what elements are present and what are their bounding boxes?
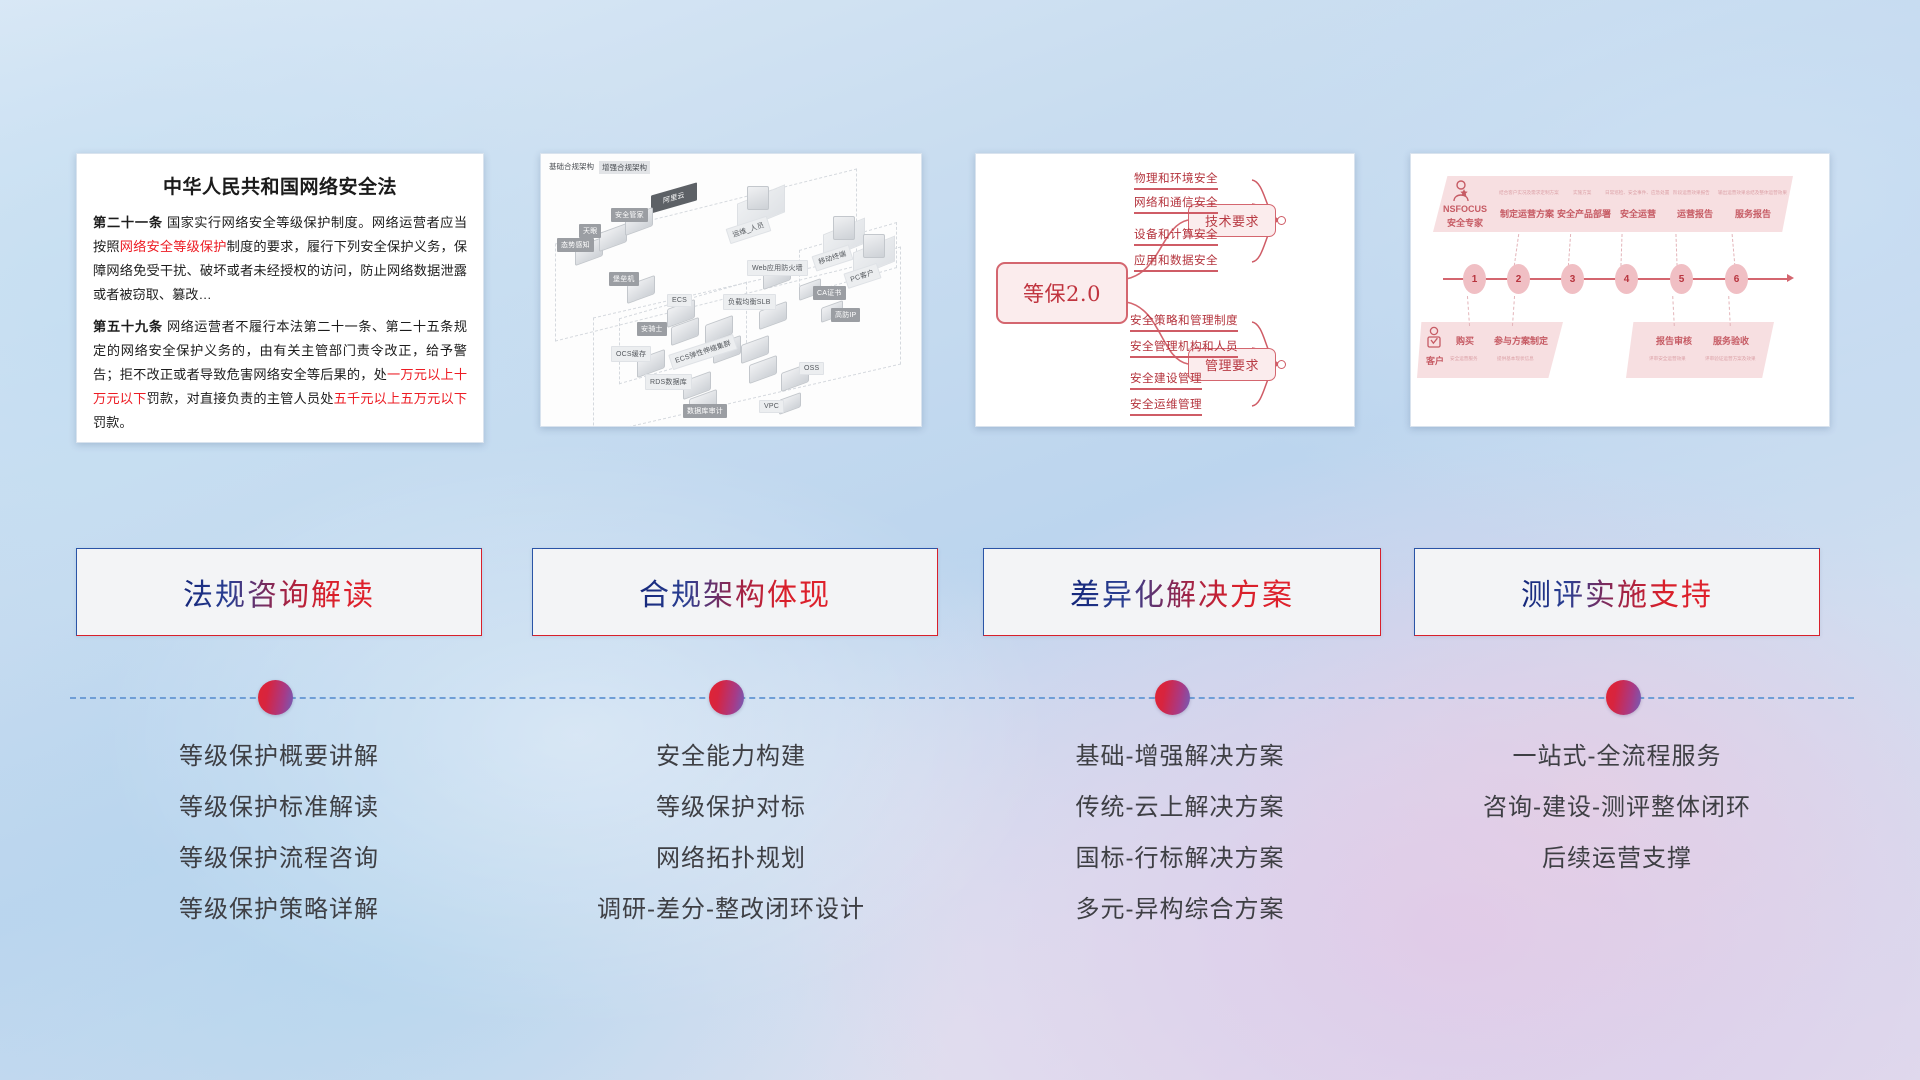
article-59-label: 第五十九条 — [93, 319, 163, 334]
cloud-tab-enhanced: 增强合规架构 — [599, 161, 650, 174]
title-box-2[interactable]: 合规架构体现 — [532, 548, 938, 636]
nsfocus-bottom-sub-4: 评审验证运营方案及效果 — [1705, 356, 1756, 362]
node-label-anqishi: 安骑士 — [637, 322, 667, 336]
nsfocus-step-marker-6: 6 — [1725, 264, 1748, 294]
list-item: 等级保护概要讲解 — [76, 745, 482, 769]
nsfocus-connector-bottom-2 — [1512, 296, 1516, 326]
nsfocus-bottom-sub-3: 评审安全运营效果 — [1649, 356, 1686, 362]
list-item: 后续运营支撑 — [1398, 847, 1836, 871]
title-label-1: 法规咨询解读 — [183, 570, 375, 614]
title-box-1[interactable]: 法规咨询解读 — [76, 548, 482, 636]
list-item: 等级保护对标 — [515, 796, 947, 820]
nsfocus-top-title-1: 制定运营方案 — [1500, 207, 1554, 220]
feature-column-3: 基础-增强解决方案 传统-云上解决方案 国标-行标解决方案 多元-异构综合方案 — [975, 745, 1385, 949]
feature-column-1: 等级保护概要讲解 等级保护标准解读 等级保护流程咨询 等级保护策略详解 — [76, 745, 482, 949]
list-item: 安全能力构建 — [515, 745, 947, 769]
list-item: 网络拓扑规划 — [515, 847, 947, 871]
list-item: 调研-差分-整改闭环设计 — [515, 898, 947, 922]
nsfocus-step-marker-1: 1 — [1463, 264, 1486, 294]
mindmap-leaf-tech-1: 物理和环境安全 — [1134, 170, 1218, 190]
nsfocus-top-title-2: 安全产品部署 — [1557, 207, 1611, 220]
slide-stage: 中华人民共和国网络安全法 第二十一条 国家实行网络安全等级保护制度。网络运营者应… — [0, 0, 1920, 1080]
card-cloud-architecture: 基础合规架构 增强合规架构 阿里云 态势感知 天眼 安全管家 — [540, 153, 922, 427]
mindmap-dot-technical — [1277, 216, 1286, 225]
node-label-vpc: VPC — [759, 400, 784, 413]
nsfocus-bottom-band-right — [1626, 322, 1774, 378]
node-mobile-client — [833, 216, 855, 240]
nsfocus-connector-bottom-1 — [1467, 296, 1471, 326]
card-mindmap: 等保2.0 技术要求 物理和环境安全 网络和通信安全 设备和计算安全 应用和数据… — [975, 153, 1355, 427]
node-label-oss: OSS — [799, 362, 824, 375]
node-label-ocs: OCS缓存 — [611, 346, 651, 362]
node-label-rds: RDS数据库 — [645, 374, 692, 390]
nsfocus-customer-label: 客户 — [1426, 354, 1444, 367]
nsfocus-connector-bottom-5 — [1672, 296, 1676, 326]
nsfocus-top-sub-4: 阶段运营效果报告 — [1673, 190, 1710, 196]
feature-column-4: 一站式-全流程服务 咨询-建设-测评整体闭环 后续运营支撑 — [1398, 745, 1836, 898]
list-item: 国标-行标解决方案 — [975, 847, 1385, 871]
mindmap-leaf-tech-2: 网络和通信安全 — [1134, 194, 1218, 214]
nsfocus-connector-top-3 — [1568, 234, 1572, 266]
timeline-dot-1[interactable] — [258, 680, 293, 715]
list-item: 基础-增强解决方案 — [975, 745, 1385, 769]
nsfocus-connector-top-6 — [1732, 234, 1737, 266]
nsfocus-top-sub-1: 结合客户实况及需求定制方案 — [1499, 190, 1559, 196]
node-label-slb: 负载均衡SLB — [723, 294, 776, 310]
article-59-text-2: 罚款，对直接负责的主管人员处 — [146, 391, 333, 406]
mindmap-leaf-mgmt-4: 安全运维管理 — [1130, 396, 1202, 416]
mindmap-root: 等保2.0 — [996, 262, 1128, 324]
article-59-highlight-2: 五千元以上五万元以下 — [334, 391, 467, 406]
nsfocus-bottom-sub-1: 安全运营服务 — [1450, 356, 1478, 362]
list-item: 一站式-全流程服务 — [1398, 745, 1836, 769]
article-21-label: 第二十一条 — [93, 215, 163, 230]
list-item: 传统-云上解决方案 — [975, 796, 1385, 820]
node-ecs-cluster-4 — [749, 360, 777, 379]
customer-icon — [1425, 326, 1443, 352]
node-tianyan — [599, 228, 627, 247]
nsfocus-step-marker-5: 5 — [1670, 264, 1693, 294]
mindmap-leaf-mgmt-1: 安全策略和管理制度 — [1130, 312, 1238, 332]
nsfocus-diagram: NSFOCUS 安全专家 结合客户实况及需求定制方案 制定运营方案 实施方案 安… — [1411, 154, 1829, 426]
nsfocus-bottom-title-2: 参与方案制定 — [1494, 334, 1548, 347]
mindmap-canvas: 等保2.0 技术要求 物理和环境安全 网络和通信安全 设备和计算安全 应用和数据… — [976, 154, 1354, 426]
nsfocus-bottom-title-1: 购买 — [1456, 334, 1474, 347]
article-21-highlight: 网络安全等级保护 — [120, 239, 227, 254]
nsfocus-top-sub-3: 日常巡检、安全事件、应急处置 — [1605, 190, 1669, 196]
law-title: 中华人民共和国网络安全法 — [93, 172, 467, 199]
timeline-dashed-line — [70, 697, 1854, 699]
node-pc-client — [863, 234, 885, 258]
node-label-security-manager: 安全管家 — [611, 208, 648, 222]
node-label-ecs: ECS — [667, 294, 692, 307]
card-nsfocus-timeline: NSFOCUS 安全专家 结合客户实况及需求定制方案 制定运营方案 实施方案 安… — [1410, 153, 1830, 427]
title-label-4: 测评实施支持 — [1521, 570, 1713, 614]
node-label-situation-awareness: 态势感知 — [557, 238, 594, 252]
nsfocus-bottom-title-3: 报告审核 — [1656, 334, 1692, 347]
list-item: 等级保护标准解读 — [76, 796, 482, 820]
card-law-document: 中华人民共和国网络安全法 第二十一条 国家实行网络安全等级保护制度。网络运营者应… — [76, 153, 484, 443]
security-expert-icon — [1451, 180, 1471, 202]
node-label-waf: Web应用防火墙 — [747, 260, 808, 276]
mindmap-dot-management — [1277, 360, 1286, 369]
node-label-db-audit: 数据库审计 — [683, 404, 727, 418]
node-anqishi — [671, 322, 699, 341]
node-label-tianyan: 天眼 — [579, 224, 601, 238]
nsfocus-axis-arrow — [1787, 274, 1794, 282]
nsfocus-connector-top-5 — [1675, 234, 1678, 266]
nsfocus-step-marker-3: 3 — [1561, 264, 1584, 294]
article-59-text-3: 罚款。 — [93, 415, 133, 430]
nsfocus-connector-bottom-6 — [1728, 296, 1732, 326]
mindmap-leaf-tech-4: 应用和数据安全 — [1134, 252, 1218, 272]
feature-column-2: 安全能力构建 等级保护对标 网络拓扑规划 调研-差分-整改闭环设计 — [515, 745, 947, 949]
list-item: 等级保护流程咨询 — [76, 847, 482, 871]
law-document-body: 中华人民共和国网络安全法 第二十一条 国家实行网络安全等级保护制度。网络运营者应… — [77, 154, 483, 442]
title-label-3: 差异化解决方案 — [1070, 570, 1294, 614]
timeline-dot-4[interactable] — [1606, 680, 1641, 715]
title-label-2: 合规架构体现 — [639, 570, 831, 614]
law-article-59: 第五十九条 网络运营者不履行本法第二十一条、第二十五条规定的网络安全保护义务的，… — [93, 315, 467, 435]
nsfocus-top-sub-2: 实施方案 — [1573, 190, 1591, 196]
timeline-dot-3[interactable] — [1155, 680, 1190, 715]
node-ops-person — [747, 186, 769, 210]
nsfocus-bottom-sub-2: 提供基本现状信息 — [1497, 356, 1534, 362]
mindmap-leaf-mgmt-3: 安全建设管理 — [1130, 370, 1202, 390]
cloud-architecture-diagram: 基础合规架构 增强合规架构 阿里云 态势感知 天眼 安全管家 — [541, 154, 921, 426]
node-ecs-cluster-3 — [741, 340, 769, 359]
nsfocus-top-title-3: 安全运营 — [1620, 207, 1656, 220]
list-item: 多元-异构综合方案 — [975, 898, 1385, 922]
node-label-bastion: 堡垒机 — [609, 272, 639, 286]
nsfocus-step-marker-2: 2 — [1507, 264, 1530, 294]
title-box-4[interactable]: 测评实施支持 — [1414, 548, 1820, 636]
nsfocus-top-title-4: 运营报告 — [1677, 207, 1713, 220]
nsfocus-bottom-title-4: 服务验收 — [1713, 334, 1749, 347]
nsfocus-expert-line1: NSFOCUS — [1443, 204, 1487, 214]
law-article-21: 第二十一条 国家实行网络安全等级保护制度。网络运营者应当按照网络安全等级保护制度… — [93, 211, 467, 307]
nsfocus-connector-top-4 — [1620, 234, 1623, 266]
timeline-dot-2[interactable] — [709, 680, 744, 715]
node-label-ca: CA证书 — [813, 286, 846, 300]
node-label-anti-ddos: 高防IP — [831, 308, 860, 322]
list-item: 咨询-建设-测评整体闭环 — [1398, 796, 1836, 820]
list-item: 等级保护策略详解 — [76, 898, 482, 922]
nsfocus-top-sub-5: 输出运营效果总结及整体运营效果 — [1718, 190, 1787, 196]
nsfocus-expert-line2: 安全专家 — [1447, 216, 1483, 229]
nsfocus-step-marker-4: 4 — [1615, 264, 1638, 294]
nsfocus-connector-top-2 — [1514, 234, 1520, 266]
mindmap-leaf-mgmt-2: 安全管理机构和人员 — [1130, 338, 1238, 358]
cloud-tab-basic: 基础合规架构 — [549, 161, 594, 172]
nsfocus-top-title-5: 服务报告 — [1735, 207, 1771, 220]
mindmap-leaf-tech-3: 设备和计算安全 — [1134, 226, 1218, 246]
title-box-3[interactable]: 差异化解决方案 — [983, 548, 1381, 636]
